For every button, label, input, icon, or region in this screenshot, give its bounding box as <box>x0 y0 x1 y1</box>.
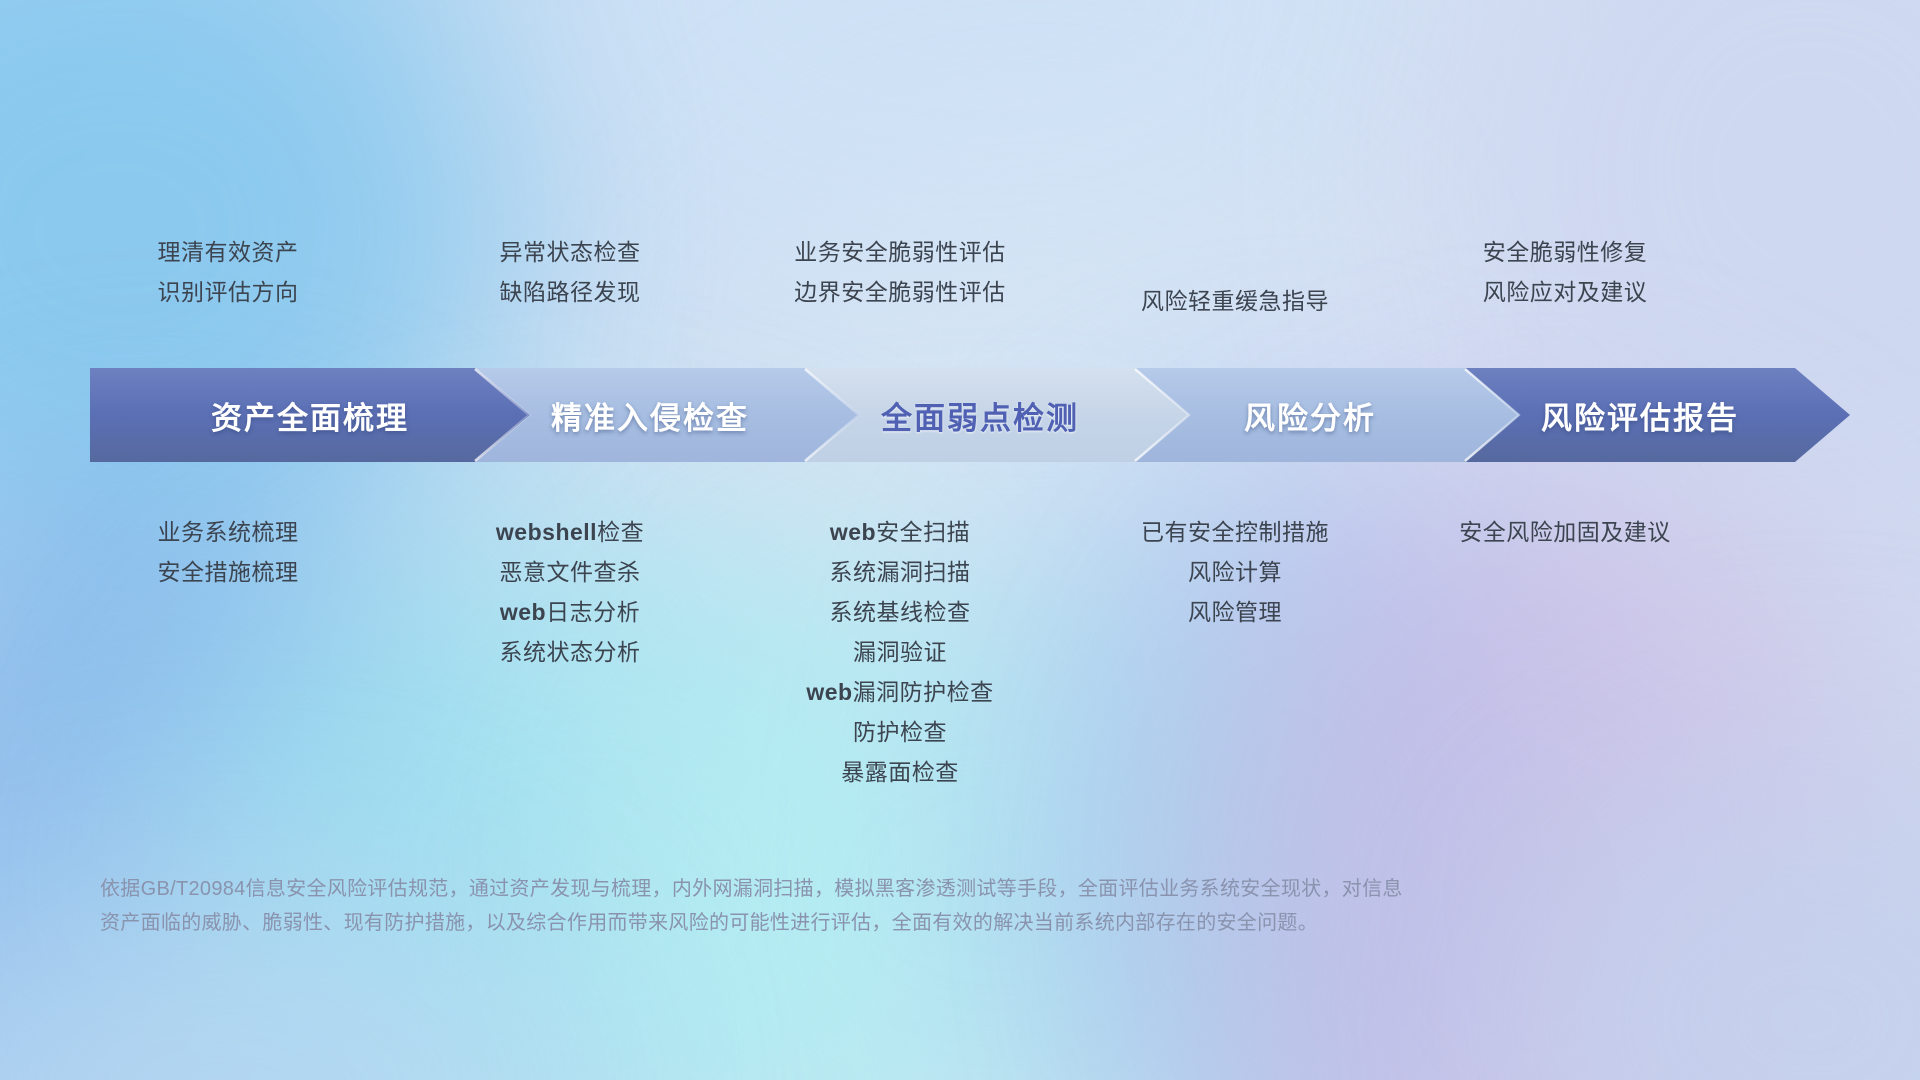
top-label: 安全脆弱性修复 <box>1365 232 1765 272</box>
footer-caption: 依据GB/T20984信息安全风险评估规范，通过资产发现与梳理，内外网漏洞扫描，… <box>100 872 1660 940</box>
bottom-label-text: 防护检查 <box>853 719 947 745</box>
arrow-shape-1 <box>90 368 530 462</box>
bottom-label-text: 安全措施梳理 <box>158 559 299 585</box>
bottom-label: 风险计算 <box>1035 552 1435 592</box>
bottom-label-text: 系统状态分析 <box>500 639 641 665</box>
bottom-label: 业务系统梳理 <box>28 512 428 552</box>
step-5-top-labels: 安全脆弱性修复风险应对及建议 <box>1365 232 1765 312</box>
bottom-label-text: 系统漏洞扫描 <box>830 559 971 585</box>
step-1-bottom-labels: 业务系统梳理安全措施梳理 <box>28 512 428 592</box>
bottom-label-text: 安全风险加固及建议 <box>1459 519 1671 545</box>
bottom-label-text: 日志分析 <box>546 599 640 625</box>
bottom-label-emphasis: web <box>830 519 876 545</box>
bottom-label-text: 漏洞防护检查 <box>853 679 994 705</box>
bottom-label: 安全风险加固及建议 <box>1365 512 1765 552</box>
step-1-top-labels: 理清有效资产识别评估方向 <box>28 232 428 312</box>
bottom-label: 防护检查 <box>700 712 1100 752</box>
step-5-bottom-labels: 安全风险加固及建议 <box>1365 512 1765 552</box>
process-arrow-band: 资产全面梳理 精准入侵检查 全面弱点检测 风险分析 风险评估报告 <box>0 368 1920 462</box>
bottom-label-text: 系统基线检查 <box>830 599 971 625</box>
bottom-label-emphasis: web <box>806 679 852 705</box>
bottom-label-text: 漏洞验证 <box>853 639 947 665</box>
bottom-label-text: 恶意文件查杀 <box>500 559 641 585</box>
bottom-label: 安全措施梳理 <box>28 552 428 592</box>
bottom-label: 风险管理 <box>1035 592 1435 632</box>
bottom-label-text: 暴露面检查 <box>841 759 959 785</box>
caption-line-1: 依据GB/T20984信息安全风险评估规范，通过资产发现与梳理，内外网漏洞扫描，… <box>100 872 1660 906</box>
bottom-label: 漏洞验证 <box>700 632 1100 672</box>
bottom-label-emphasis: webshell <box>496 519 597 545</box>
bottom-label-text: 检查 <box>597 519 644 545</box>
bottom-label-emphasis: web <box>500 599 546 625</box>
process-diagram: 理清有效资产识别评估方向 异常状态检查缺陷路径发现 业务安全脆弱性评估边界安全脆… <box>0 0 1920 1080</box>
bottom-label: web漏洞防护检查 <box>700 672 1100 712</box>
top-label: 风险应对及建议 <box>1365 272 1765 312</box>
caption-line-2: 资产面临的威胁、脆弱性、现有防护措施，以及综合作用而带来风险的可能性进行评估，全… <box>100 906 1660 940</box>
top-label: 业务安全脆弱性评估 <box>700 232 1100 272</box>
top-label: 识别评估方向 <box>28 272 428 312</box>
bottom-label: 暴露面检查 <box>700 752 1100 792</box>
bottom-label-text: 风险管理 <box>1188 599 1282 625</box>
bottom-label-text: 风险计算 <box>1188 559 1282 585</box>
bottom-label-text: 业务系统梳理 <box>158 519 299 545</box>
top-label: 理清有效资产 <box>28 232 428 272</box>
bottom-label-text: 已有安全控制措施 <box>1141 519 1329 545</box>
bottom-label-text: 安全扫描 <box>876 519 970 545</box>
